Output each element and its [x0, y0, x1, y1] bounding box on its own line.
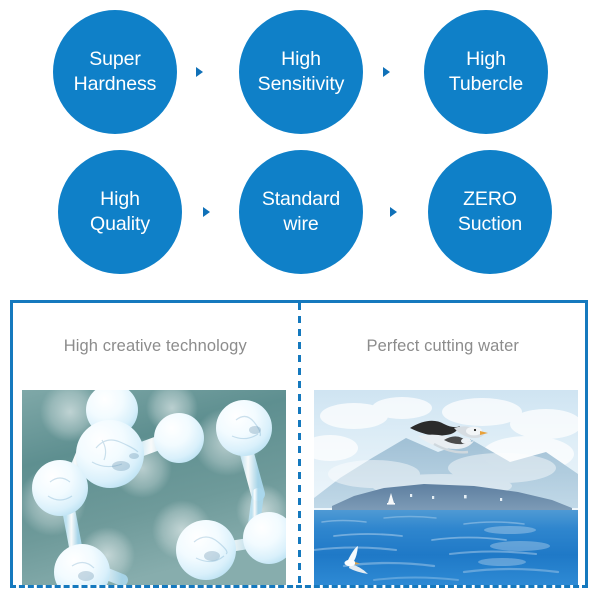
feature-row-2: High Quality Standard wire ZERO Suction: [0, 148, 600, 278]
feature-circle-label-line2: Suction: [458, 212, 522, 237]
feature-circle-label-line2: Tubercle: [449, 72, 523, 97]
showcase-panel-left: High creative technology: [13, 303, 298, 585]
feature-circle-label-line2: Quality: [90, 212, 150, 237]
flow-arrow-icon: [383, 67, 390, 77]
feature-circle-high-tubercle[interactable]: High Tubercle: [424, 10, 548, 134]
feature-circle-label-line1: ZERO: [463, 187, 517, 212]
feature-circle-label-line2: Hardness: [74, 72, 157, 97]
flow-arrow-icon: [203, 207, 210, 217]
flow-arrow-icon: [390, 207, 397, 217]
feature-circle-label-line1: Standard: [262, 187, 340, 212]
showcase-caption-left: High creative technology: [64, 337, 247, 356]
feature-circle-label-line2: Sensitivity: [258, 72, 345, 97]
feature-circle-label-line1: Super: [89, 47, 141, 72]
flow-arrow-icon: [196, 67, 203, 77]
feature-circle-high-sensitivity[interactable]: High Sensitivity: [239, 10, 363, 134]
feature-circle-label-line1: High: [466, 47, 506, 72]
showcase-panel: High creative technology: [10, 300, 588, 588]
molecule-artwork: [22, 390, 286, 585]
feature-circle-label-line1: High: [281, 47, 321, 72]
feature-circle-label-line2: wire: [283, 212, 318, 237]
feature-circle-label-line1: High: [100, 187, 140, 212]
feature-circle-super-hardness[interactable]: Super Hardness: [53, 10, 177, 134]
showcase-caption-right: Perfect cutting water: [366, 337, 519, 356]
feature-circle-high-quality[interactable]: High Quality: [58, 150, 182, 274]
seascape-artwork: [314, 390, 578, 585]
molecule-structure-photo: [22, 390, 286, 585]
seagulls-over-water-photo: [314, 390, 578, 585]
feature-flow-section: Super Hardness High Sensitivity High Tub…: [0, 0, 600, 288]
showcase-panel-right: Perfect cutting water: [301, 303, 586, 585]
feature-circle-standard-wire[interactable]: Standard wire: [239, 150, 363, 274]
feature-row-1: Super Hardness High Sensitivity High Tub…: [0, 8, 600, 138]
feature-circle-zero-suction[interactable]: ZERO Suction: [428, 150, 552, 274]
